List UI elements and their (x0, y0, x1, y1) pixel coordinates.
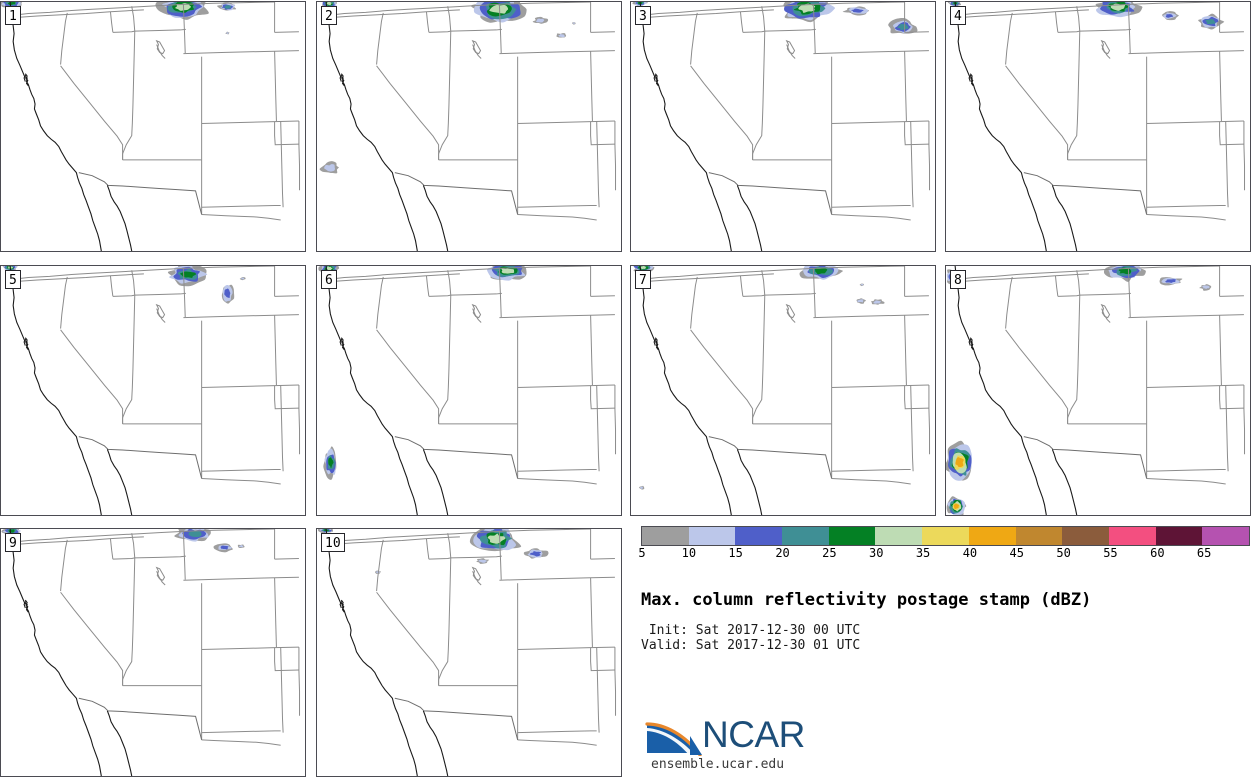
colorbar-tick-60: 60 (1150, 546, 1164, 560)
gulf-of-california-coast (423, 449, 447, 515)
pacific-coastline (10, 529, 101, 776)
stamp-panel-3[interactable]: 3 (630, 1, 936, 252)
stamp-panel-4[interactable]: 4 (945, 1, 1251, 252)
colorbar-segment-9 (1062, 527, 1109, 545)
gulf-of-california-coast (737, 185, 761, 251)
reflectivity-field (318, 529, 549, 574)
gulf-of-california-coast (423, 711, 447, 776)
pacific-coastline (326, 2, 417, 251)
international-border (1024, 437, 1147, 479)
pacific-coastline (640, 266, 731, 515)
stamp-panel-9[interactable]: 9 (0, 528, 306, 777)
stamp-panel-2[interactable]: 2 (316, 1, 622, 252)
colorbar-segment-6 (922, 527, 969, 545)
state-boundaries (642, 2, 930, 220)
map-canvas (317, 529, 621, 776)
colorbar-segment-11 (1156, 527, 1203, 545)
ncar-logo: NCAR ensemble.ucar.edu (645, 712, 845, 760)
panel-number-label-1: 1 (5, 6, 21, 25)
reflectivity-field (1, 2, 236, 34)
map-canvas (1, 2, 305, 251)
reflectivity-colorbar (641, 526, 1250, 546)
map-canvas (317, 2, 621, 251)
state-boundaries (957, 266, 1245, 484)
state-boundaries (12, 266, 300, 484)
colorbar-tick-20: 20 (775, 546, 789, 560)
colorbar-segment-0 (642, 527, 689, 545)
colorbar-segment-8 (1016, 527, 1063, 545)
colorbar-segment-2 (735, 527, 782, 545)
gulf-of-california-coast (107, 185, 131, 251)
stamp-panel-6[interactable]: 6 (316, 265, 622, 516)
logo-row: NCAR (645, 712, 845, 760)
map-canvas (946, 266, 1250, 515)
figure-caption: Max. column reflectivity postage stamp (… (641, 590, 1241, 653)
colorbar-tick-35: 35 (916, 546, 930, 560)
state-boundaries (957, 2, 1245, 220)
ncar-mountain-icon (645, 712, 703, 756)
international-border (1024, 173, 1147, 215)
colorbar-tick-15: 15 (728, 546, 742, 560)
pacific-coastline (326, 529, 417, 776)
map-canvas (631, 266, 935, 515)
stamp-panel-5[interactable]: 5 (0, 265, 306, 516)
state-boundaries (328, 266, 616, 484)
colorbar-tick-5: 5 (638, 546, 645, 560)
panel-number-label-5: 5 (5, 270, 21, 289)
international-border (395, 437, 518, 479)
colorbar-tick-50: 50 (1056, 546, 1070, 560)
reflectivity-contour (501, 269, 514, 274)
valid-time-line: Valid: Sat 2017-12-30 01 UTC (641, 638, 1241, 653)
panel-number-label-9: 9 (5, 533, 21, 552)
gulf-of-california-coast (1052, 185, 1076, 251)
reflectivity-field (320, 2, 576, 173)
colorbar-segment-7 (969, 527, 1016, 545)
figure-canvas: 12345678910 5101520253035404550556065 Ma… (0, 0, 1260, 778)
state-boundaries (12, 2, 300, 220)
panel-number-label-4: 4 (950, 6, 966, 25)
ensemble-url-label: ensemble.ucar.edu (651, 757, 784, 772)
stamp-panel-8[interactable]: 8 (945, 265, 1251, 516)
panel-number-label-10: 10 (321, 533, 345, 552)
colorbar-segment-12 (1202, 527, 1249, 545)
pacific-coastline (10, 2, 101, 251)
map-canvas (1, 266, 305, 515)
gulf-of-california-coast (1052, 449, 1076, 515)
page-title: Max. column reflectivity postage stamp (… (641, 590, 1241, 610)
gulf-of-california-coast (423, 185, 447, 251)
reflectivity-contour (241, 278, 244, 280)
colorbar-tick-40: 40 (963, 546, 977, 560)
panel-number-label-7: 7 (635, 270, 651, 289)
reflectivity-field (2, 529, 245, 552)
map-canvas (1, 529, 305, 776)
colorbar-tick-10: 10 (682, 546, 696, 560)
panel-number-label-6: 6 (321, 270, 337, 289)
international-border (709, 173, 832, 215)
pacific-coastline (640, 2, 731, 251)
international-border (395, 698, 518, 740)
state-boundaries (12, 529, 300, 745)
map-canvas (317, 266, 621, 515)
reflectivity-contour (221, 546, 229, 550)
state-boundaries (328, 529, 616, 745)
colorbar-tick-labels: 5101520253035404550556065 (641, 546, 1250, 562)
init-time-line: Init: Sat 2017-12-30 00 UTC (641, 623, 1241, 638)
colorbar-segment-10 (1109, 527, 1156, 545)
pacific-coastline (326, 266, 417, 515)
colorbar-tick-25: 25 (822, 546, 836, 560)
colorbar-tick-30: 30 (869, 546, 883, 560)
colorbar-segment-3 (782, 527, 829, 545)
international-border (395, 173, 518, 215)
gulf-of-california-coast (737, 449, 761, 515)
international-border (709, 437, 832, 479)
map-canvas (946, 2, 1250, 251)
gulf-of-california-coast (107, 449, 131, 515)
stamp-panel-7[interactable]: 7 (630, 265, 936, 516)
state-boundaries (642, 266, 930, 484)
international-border (79, 698, 202, 740)
state-boundaries (328, 2, 616, 220)
gulf-of-california-coast (107, 711, 131, 776)
stamp-panel-1[interactable]: 1 (0, 1, 306, 252)
colorbar-tick-65: 65 (1197, 546, 1211, 560)
colorbar-segment-4 (829, 527, 876, 545)
colorbar-tick-55: 55 (1103, 546, 1117, 560)
stamp-panel-10[interactable]: 10 (316, 528, 622, 777)
pacific-coastline (955, 2, 1046, 251)
panel-number-label-3: 3 (635, 6, 651, 25)
colorbar-segment-5 (875, 527, 922, 545)
pacific-coastline (10, 266, 101, 515)
colorbar-tick-45: 45 (1010, 546, 1024, 560)
ncar-wordmark: NCAR (702, 715, 805, 755)
panel-number-label-2: 2 (321, 6, 337, 25)
international-border (79, 173, 202, 215)
colorbar-segment-1 (689, 527, 736, 545)
reflectivity-field (634, 266, 885, 490)
map-canvas (631, 2, 935, 251)
pacific-coastline (955, 266, 1046, 515)
panel-number-label-8: 8 (950, 270, 966, 289)
international-border (79, 437, 202, 479)
